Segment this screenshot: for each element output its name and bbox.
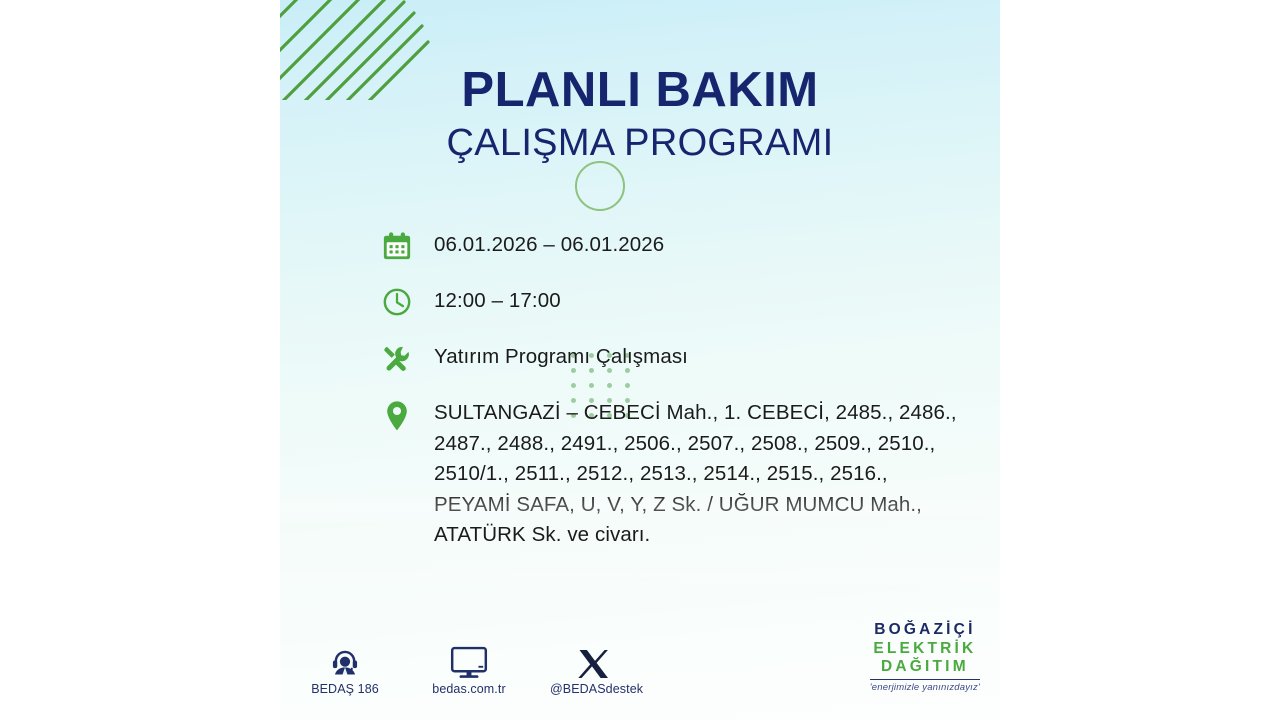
poster-canvas: PLANLI BAKIM ÇALIŞMA PROGRAMI: [0, 0, 1280, 720]
work-type-text: Yatırım Programı Çalışması: [434, 340, 688, 373]
detail-row-work-type: Yatırım Programı Çalışması: [380, 340, 970, 375]
location-pin-icon: [380, 399, 414, 433]
location-text: SULTANGAZİ – CEBECİ Mah., 1. CEBECİ, 248…: [434, 396, 970, 551]
brand-line-1: BOĞAZİÇİ: [870, 622, 980, 638]
contact-channels: BEDAŞ 186 bedas.com.tr: [302, 638, 636, 698]
brand-tagline: 'enerjimizle yanınızdayız': [870, 683, 980, 693]
detail-row-date: 06.01.2026 – 06.01.2026: [380, 228, 970, 263]
date-range-text: 06.01.2026 – 06.01.2026: [434, 228, 664, 261]
call-center-headset-icon: [302, 638, 388, 680]
brand-divider: [870, 679, 980, 680]
detail-row-time: 12:00 – 17:00: [380, 284, 970, 319]
brand-line-2: ELEKTRİK: [870, 641, 980, 657]
brand-line-3: DAĞITIM: [870, 659, 980, 675]
contact-website-label: bedas.com.tr: [432, 682, 505, 696]
contact-phone[interactable]: BEDAŞ 186: [302, 638, 388, 698]
circle-outline-decoration: [575, 161, 625, 211]
calendar-icon: [380, 229, 414, 263]
page-title: PLANLI BAKIM: [280, 62, 1000, 118]
detail-row-location: SULTANGAZİ – CEBECİ Mah., 1. CEBECİ, 248…: [380, 396, 970, 551]
contact-x-twitter[interactable]: @BEDASdestek: [550, 638, 636, 698]
contact-website[interactable]: bedas.com.tr: [426, 638, 512, 698]
clock-icon: [380, 285, 414, 319]
monitor-icon: [426, 638, 512, 680]
contact-x-label: @BEDASdestek: [550, 682, 643, 696]
tools-icon: [380, 341, 414, 375]
page-subtitle: ÇALIŞMA PROGRAMI: [280, 120, 1000, 166]
company-logo: BOĞAZİÇİ ELEKTRİK DAĞITIM 'enerjimizle y…: [870, 622, 980, 692]
time-range-text: 12:00 – 17:00: [434, 284, 561, 317]
poster-header: PLANLI BAKIM ÇALIŞMA PROGRAMI: [280, 62, 1000, 166]
contact-phone-label: BEDAŞ 186: [311, 682, 379, 696]
outage-details: 06.01.2026 – 06.01.2026 12:00 – 17:00: [380, 228, 970, 551]
poster-footer: BEDAŞ 186 bedas.com.tr: [280, 614, 1000, 704]
announcement-card: PLANLI BAKIM ÇALIŞMA PROGRAMI: [280, 0, 1000, 720]
x-twitter-icon: [550, 638, 636, 680]
